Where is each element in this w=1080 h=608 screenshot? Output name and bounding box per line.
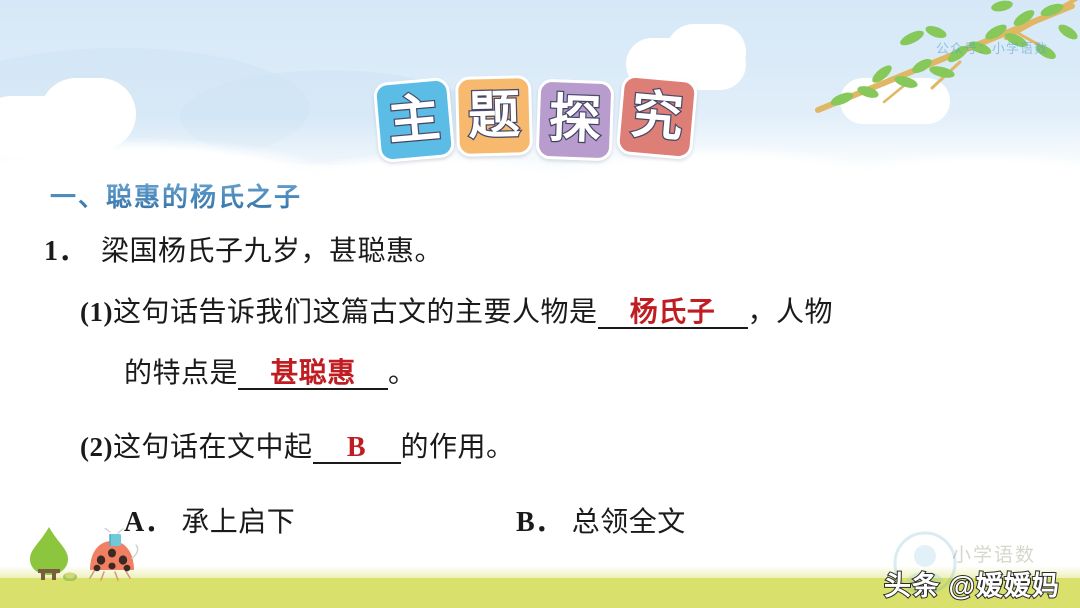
answer-blank-1[interactable]: 杨氏子: [598, 299, 748, 329]
title-tile-1: 主: [373, 77, 456, 163]
watermark-logo-text: 小学语数: [952, 540, 1036, 567]
sub-question-1-line-2: 的特点是甚聪惠。: [124, 360, 417, 390]
title-tile-3: 探: [536, 79, 615, 162]
question-stem-text: 梁国杨氏子九岁，甚聪惠。: [101, 236, 443, 267]
title-tile-2: 题: [455, 75, 533, 157]
ladybug-antenna: [132, 545, 138, 558]
watermark-bottom-right: 头条 @嫒嫒妈: [884, 564, 1060, 603]
sub-question-2-label: (2): [80, 432, 113, 462]
option-a[interactable]: A．承上启下: [124, 500, 295, 540]
cloud-puff-4: [666, 24, 746, 80]
question-stem-line: 1．梁国杨氏子九岁，甚聪惠。: [44, 238, 443, 266]
question-number: 1．: [44, 236, 87, 267]
ladybug-decoration: [84, 528, 140, 582]
sub-question-1-text-middle: ，人物: [748, 297, 834, 328]
pebble-decoration: [62, 568, 78, 579]
sub-question-1-line2-before: 的特点是: [124, 358, 238, 389]
title-tile-1-char: 主: [386, 92, 442, 148]
sub-question-2-text-after: 的作用。: [401, 432, 515, 463]
sub-question-2-text-before: 这句话在文中起: [113, 432, 313, 463]
section-heading: 一、聪惠的杨氏之子: [50, 177, 302, 214]
ladybug-icon: [84, 528, 140, 582]
sub-question-1-line2-after: 。: [388, 358, 417, 389]
option-b-letter: B．: [516, 507, 564, 538]
sub-question-1-line-1: (1)这句话告诉我们这篇古文的主要人物是杨氏子，人物: [80, 299, 833, 329]
answer-blank-2[interactable]: 甚聪惠: [238, 360, 388, 390]
title-tile-3-char: 探: [548, 93, 602, 147]
option-b[interactable]: B．总领全文: [516, 500, 686, 540]
title-tile-4-char: 究: [629, 89, 685, 145]
slide-canvas: 公众号：小学语数 主 题 探 究 一、聪惠的杨氏之子 1．梁国杨氏子九岁，甚聪惠…: [0, 0, 1080, 608]
page-title: 主 题 探 究: [376, 74, 700, 176]
pebble-icon: [62, 570, 78, 581]
title-tile-2-char: 题: [467, 89, 520, 142]
answer-blank-3[interactable]: B: [313, 434, 401, 464]
option-a-text: 承上启下: [181, 507, 295, 538]
option-b-text: 总领全文: [572, 507, 686, 538]
sub-question-2-line: (2)这句话在文中起B的作用。: [80, 434, 515, 464]
title-tile-4: 究: [616, 74, 699, 160]
watermark-top-right: 公众号：小学语数: [936, 38, 1048, 57]
sub-question-1-label: (1): [80, 297, 113, 327]
sub-question-1-text-before: 这句话告诉我们这篇古文的主要人物是: [113, 297, 598, 328]
